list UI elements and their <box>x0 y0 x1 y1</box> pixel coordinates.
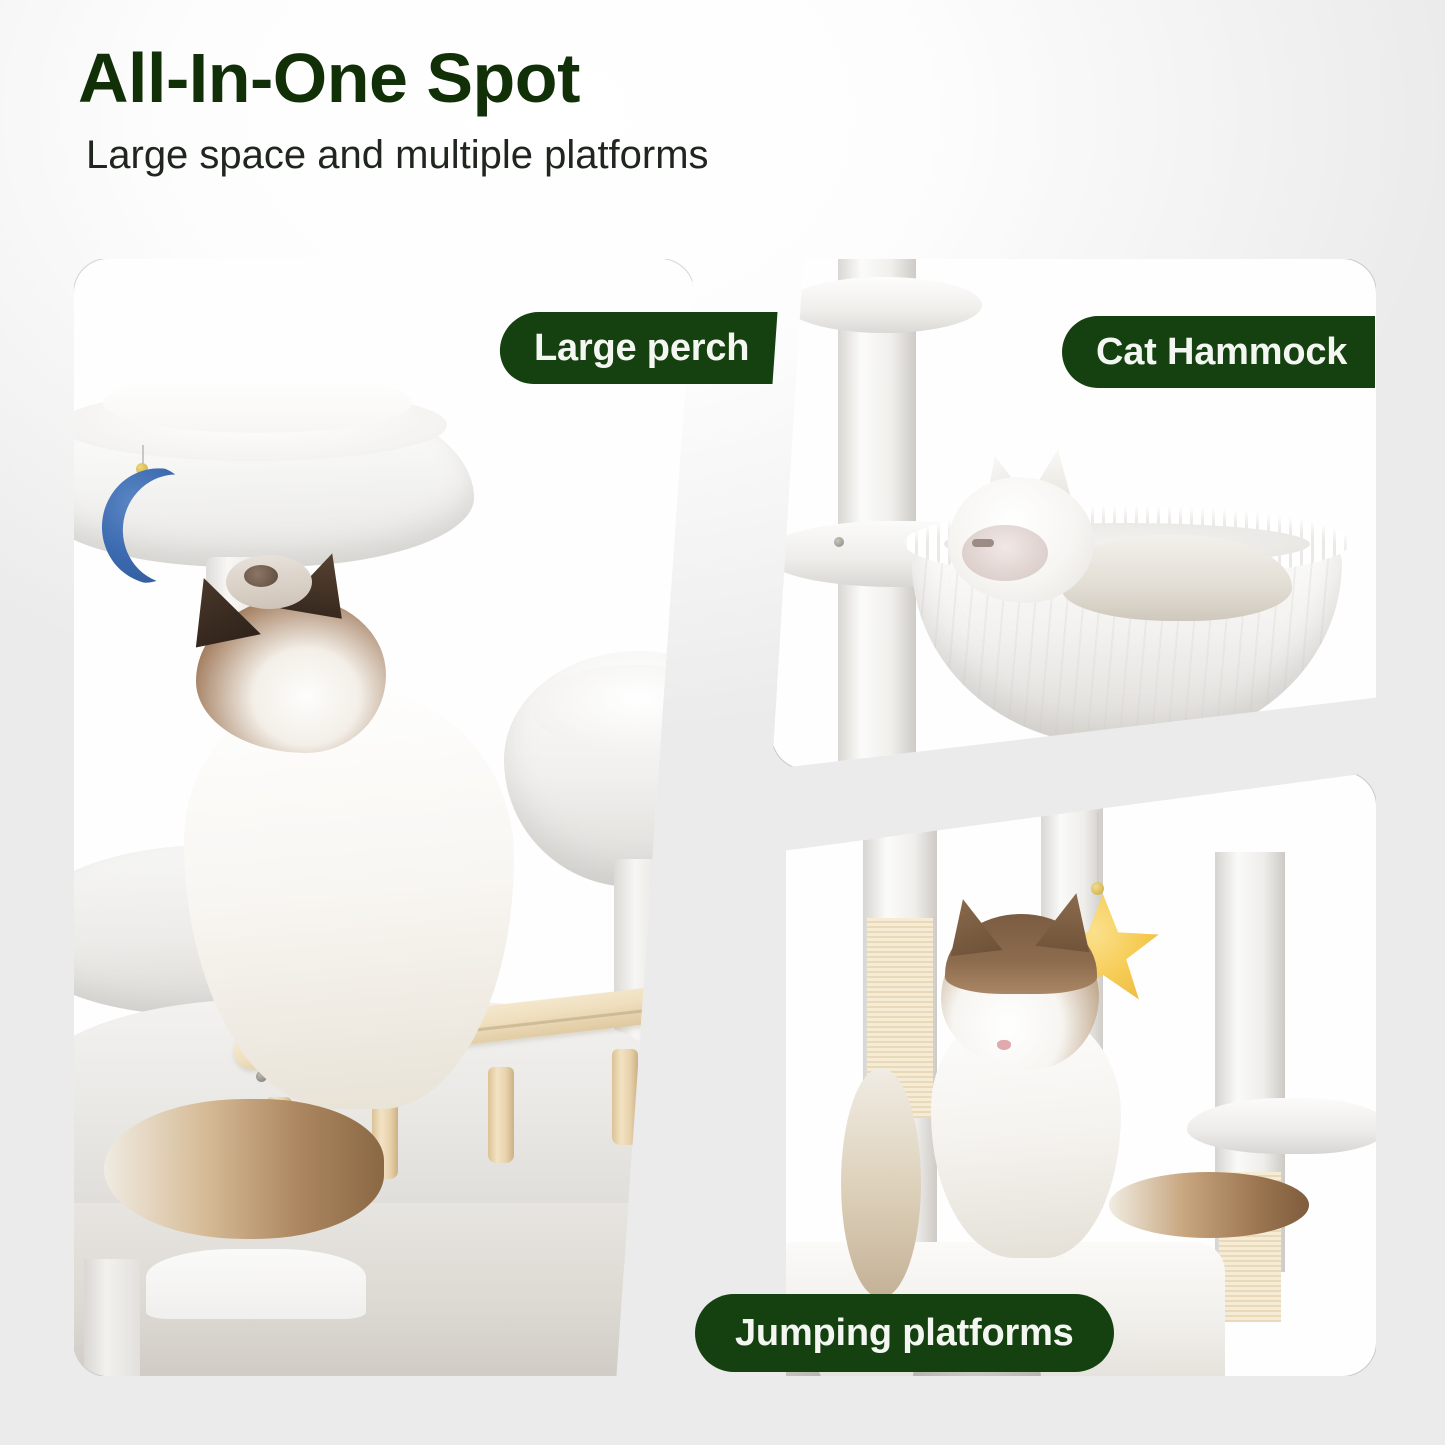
kitten-eye <box>975 996 1001 1010</box>
hammock-cat-eye <box>972 539 994 547</box>
page-subtitle: Large space and multiple platforms <box>86 133 978 177</box>
second-plush-bed <box>504 651 694 887</box>
page-title: All-In-One Spot <box>78 42 978 115</box>
hammock-post <box>838 259 916 769</box>
panel-large-perch <box>74 259 694 1376</box>
large-perch-scene <box>74 259 694 1376</box>
kitten-tail <box>1109 1172 1309 1238</box>
badge-large-perch: Large perch <box>497 312 777 384</box>
badge-cat-hammock: Cat Hammock <box>1062 316 1375 388</box>
rail-screw <box>652 1031 663 1042</box>
badge-large-perch-label: Large perch <box>534 327 749 370</box>
panel-jumping-platforms <box>745 772 1376 1376</box>
rail-leg <box>488 1067 514 1163</box>
badge-jumping-platforms-label: Jumping platforms <box>735 1312 1074 1355</box>
badge-jumping-platforms: Jumping platforms <box>695 1294 1114 1372</box>
badge-cat-hammock-label: Cat Hammock <box>1096 331 1347 374</box>
bottom-gap <box>146 1249 366 1319</box>
cat-nose <box>244 565 278 587</box>
star-toy-string <box>1097 812 1099 886</box>
star-toy-bell-icon <box>1091 882 1104 895</box>
rail-leg <box>612 1049 638 1145</box>
infographic-canvas: All-In-One Spot Large space and multiple… <box>0 0 1445 1445</box>
kitten-tail-back <box>841 1068 921 1298</box>
kitten-nose <box>997 1040 1011 1050</box>
shelf-screw <box>834 537 844 547</box>
jumping-platforms-scene <box>745 772 1376 1376</box>
cat-tail <box>104 1099 384 1239</box>
bottom-post <box>84 1259 140 1376</box>
hammock-cat-face <box>962 525 1048 581</box>
top-disc-platform <box>786 277 982 333</box>
right-shelf <box>1187 1098 1376 1154</box>
header: All-In-One Spot Large space and multiple… <box>78 42 978 177</box>
